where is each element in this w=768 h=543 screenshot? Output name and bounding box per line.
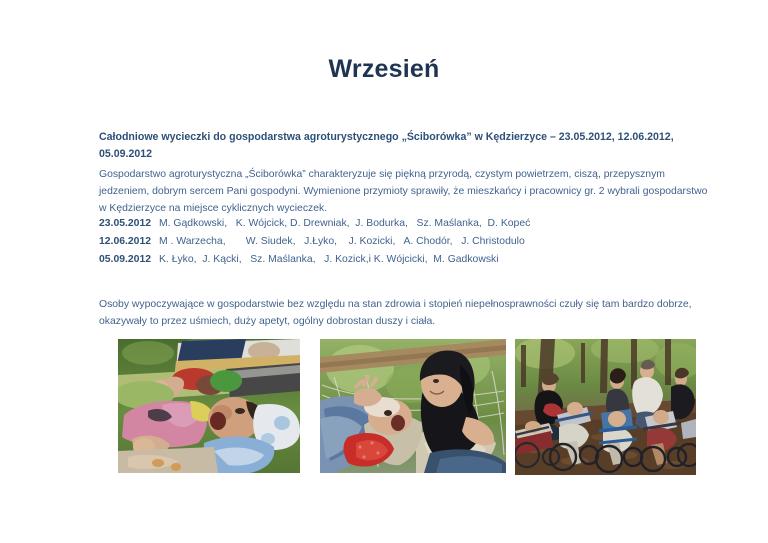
trip-participants: K. Łyko, J. Kącki, Sz. Maślanka, J. Kozi… xyxy=(159,251,499,269)
trip-date: 23.05.2012 xyxy=(99,215,159,233)
trip-date: 05.09.2012 xyxy=(99,251,159,269)
photo-3-artwork xyxy=(515,339,696,475)
page-title: Wrzesień xyxy=(0,55,768,84)
trip-row: 12.06.2012 M . Warzecha, W. Siudek, J.Ły… xyxy=(99,233,719,251)
photo-gallery xyxy=(0,339,768,479)
closing-paragraph: Osoby wypoczywające w gospodarstwie bez … xyxy=(99,296,719,330)
photo-woman-with-person-in-hammock xyxy=(320,339,506,473)
trip-row: 05.09.2012 K. Łyko, J. Kącki, Sz. Maślan… xyxy=(99,251,719,269)
trip-participants: M. Gądkowski, K. Wójcick, D. Drewniak, J… xyxy=(159,215,530,233)
intro-paragraph: Gospodarstwo agroturystyczna „Ściborówka… xyxy=(99,166,717,217)
lead-heading: Całodniowe wycieczki do gospodarstwa agr… xyxy=(99,129,703,163)
photo-people-resting-on-blankets xyxy=(118,339,300,473)
trip-row: 23.05.2012 M. Gądkowski, K. Wójcick, D. … xyxy=(99,215,719,233)
trip-participants: M . Warzecha, W. Siudek, J.Łyko, J. Kozi… xyxy=(159,233,525,251)
trip-date: 12.06.2012 xyxy=(99,233,159,251)
document-page: Wrzesień Całodniowe wycieczki do gospoda… xyxy=(0,0,768,543)
trip-list: 23.05.2012 M. Gądkowski, K. Wójcick, D. … xyxy=(99,215,719,269)
photo-group-in-wheelchairs-in-forest xyxy=(515,339,696,475)
photo-2-artwork xyxy=(320,339,506,473)
photo-1-artwork xyxy=(118,339,300,473)
